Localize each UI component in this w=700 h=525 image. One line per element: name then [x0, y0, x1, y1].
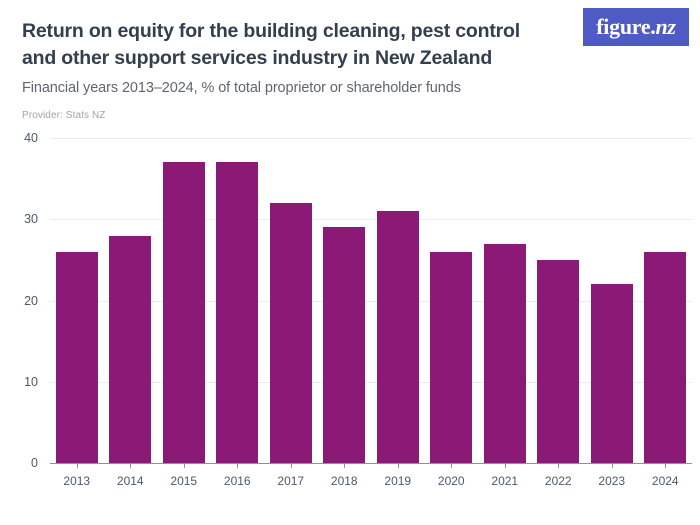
- bar-2013[interactable]: [56, 252, 98, 463]
- bar-slot: [639, 138, 693, 463]
- x-axis-tick-label: 2018: [318, 474, 372, 488]
- y-axis-tick-label: 20: [24, 294, 38, 308]
- x-axis-tick-label: 2016: [211, 474, 265, 488]
- chart-page: Return on equity for the building cleani…: [0, 0, 700, 525]
- bar-slot: [532, 138, 586, 463]
- bar-slot: [264, 138, 318, 463]
- bar-2022[interactable]: [537, 260, 579, 463]
- x-axis-slot: 2017: [264, 463, 318, 503]
- x-axis-tick: [237, 463, 238, 468]
- x-axis-tick-label: 2021: [478, 474, 532, 488]
- figurenz-logo[interactable]: figure.nz: [583, 8, 689, 46]
- x-axis-tick-label: 2020: [425, 474, 479, 488]
- bar-slot: [585, 138, 639, 463]
- x-axis-tick: [184, 463, 185, 468]
- x-axis-tick: [558, 463, 559, 468]
- x-axis-tick-label: 2024: [639, 474, 693, 488]
- bar-2015[interactable]: [163, 162, 205, 463]
- bar-2018[interactable]: [323, 227, 365, 463]
- x-axis-tick: [612, 463, 613, 468]
- bar-2024[interactable]: [644, 252, 686, 463]
- chart-subtitle: Financial years 2013–2024, % of total pr…: [22, 79, 678, 98]
- bar-2019[interactable]: [377, 211, 419, 463]
- x-axis-tick: [398, 463, 399, 468]
- x-axis-slot: 2013: [50, 463, 104, 503]
- x-axis-tick: [665, 463, 666, 468]
- logo-text: figure.nz: [596, 16, 675, 38]
- x-axis-tick-label: 2013: [50, 474, 104, 488]
- bar-2016[interactable]: [216, 162, 258, 463]
- data-provider-label: Provider: Stats NZ: [22, 109, 678, 122]
- x-axis-tick: [344, 463, 345, 468]
- x-axis-tick: [291, 463, 292, 468]
- bar-series: [50, 138, 692, 463]
- x-axis-slot: 2015: [157, 463, 211, 503]
- chart-header: Return on equity for the building cleani…: [22, 18, 678, 122]
- x-axis-tick: [130, 463, 131, 468]
- x-axis-tick-label: 2014: [104, 474, 158, 488]
- bar-slot: [157, 138, 211, 463]
- x-axis-tick: [505, 463, 506, 468]
- bar-slot: [478, 138, 532, 463]
- y-axis-tick-label: 30: [24, 212, 38, 226]
- bar-slot: [318, 138, 372, 463]
- bar-2014[interactable]: [109, 236, 151, 464]
- x-axis-slot: 2014: [104, 463, 158, 503]
- bar-slot: [425, 138, 479, 463]
- logo-text-italic: nz: [656, 14, 676, 39]
- y-axis-tick-label: 10: [24, 375, 38, 389]
- y-axis-tick-label: 0: [31, 456, 38, 470]
- bar-slot: [50, 138, 104, 463]
- bar-slot: [104, 138, 158, 463]
- y-axis: 010203040: [0, 138, 44, 463]
- x-axis-slot: 2018: [318, 463, 372, 503]
- y-axis-tick-label: 40: [24, 131, 38, 145]
- bar-2021[interactable]: [484, 244, 526, 463]
- chart-plot-area: 010203040 201320142015201620172018201920…: [0, 138, 700, 478]
- page-title: Return on equity for the building cleani…: [22, 18, 547, 72]
- x-axis-tick: [451, 463, 452, 468]
- x-axis-tick-label: 2023: [585, 474, 639, 488]
- x-axis-slot: 2016: [211, 463, 265, 503]
- logo-text-main: figure.: [596, 14, 655, 39]
- x-axis-tick-label: 2022: [532, 474, 586, 488]
- bar-2017[interactable]: [270, 203, 312, 463]
- x-axis-slot: 2021: [478, 463, 532, 503]
- x-axis-tick-label: 2015: [157, 474, 211, 488]
- x-axis-slot: 2020: [425, 463, 479, 503]
- x-axis-slot: 2024: [639, 463, 693, 503]
- bar-slot: [371, 138, 425, 463]
- bar-2020[interactable]: [430, 252, 472, 463]
- bar-2023[interactable]: [591, 284, 633, 463]
- x-axis: 2013201420152016201720182019202020212022…: [50, 463, 692, 503]
- x-axis-tick-label: 2019: [371, 474, 425, 488]
- x-axis-slot: 2022: [532, 463, 586, 503]
- x-axis-slot: 2019: [371, 463, 425, 503]
- x-axis-tick: [77, 463, 78, 468]
- x-axis-slot: 2023: [585, 463, 639, 503]
- x-axis-tick-label: 2017: [264, 474, 318, 488]
- bar-slot: [211, 138, 265, 463]
